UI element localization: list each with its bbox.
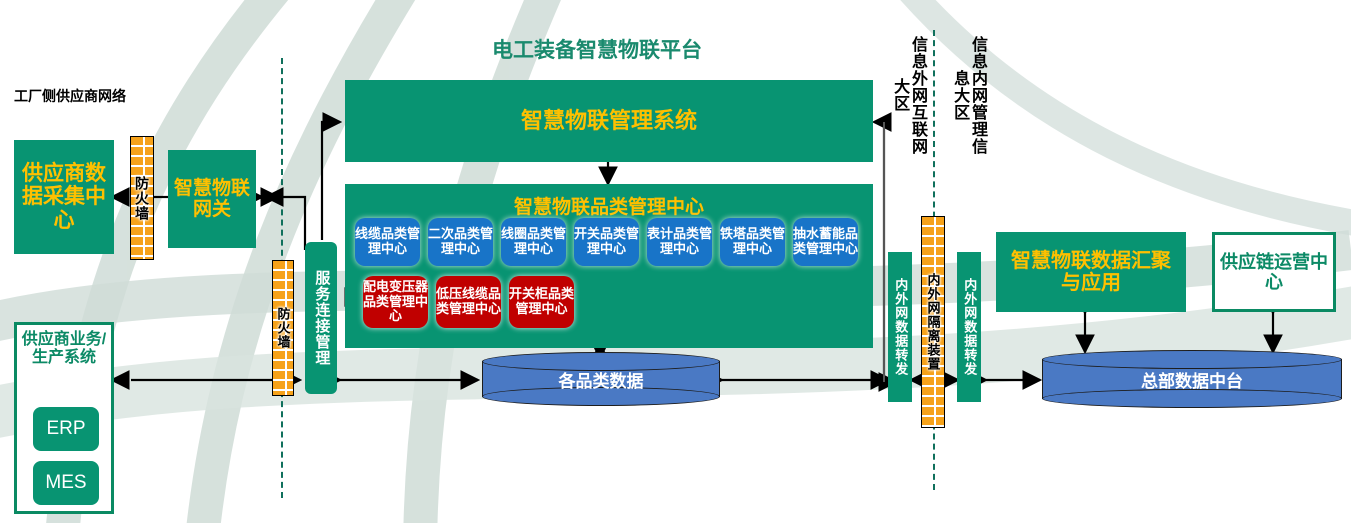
iot-gateway[interactable]: 智慧物联网关 <box>168 150 256 248</box>
internal-external-isolation-device-label: 内外网隔离装置 <box>924 273 943 371</box>
supplier-business-production-system-title: 供应商业务/生产系统 <box>17 331 111 367</box>
supplier-data-collection-center[interactable]: 供应商数据采集中心 <box>14 140 114 254</box>
red-category-switchgear[interactable]: 开关柜品类管理中心 <box>509 276 574 328</box>
supplier-business-production-system[interactable]: 供应商业务/生产系统 ERP MES <box>14 322 114 514</box>
blue-category-pumped-storage[interactable]: 抽水蓄能品类管理中心 <box>793 218 858 266</box>
iot-category-management-center-title: 智慧物联品类管理中心 <box>345 184 873 219</box>
service-connection-management[interactable]: 服务连接管理 <box>305 242 337 394</box>
red-category-low-voltage-cable[interactable]: 低压线缆品类管理中心 <box>436 276 501 328</box>
internal-external-forward-left[interactable]: 内外网数据转发 <box>888 252 912 402</box>
hq-data-platform-cylinder[interactable]: 总部数据中台 <box>1042 350 1342 408</box>
internal-external-forward-right[interactable]: 内外网数据转发 <box>957 252 981 402</box>
zone-label-external-net: 信息外网互联网大区 <box>880 30 926 160</box>
service-connection-management-label: 服务连接管理 <box>313 270 330 366</box>
zone-label-internal-net: 信息内网管理信息大区 <box>940 30 986 160</box>
mes-module[interactable]: MES <box>33 461 99 505</box>
internal-external-forward-left-label: 内外网数据转发 <box>893 278 908 376</box>
blue-category-secondary[interactable]: 二次品类管理中心 <box>428 218 493 266</box>
blue-category-cable[interactable]: 线缆品类管理中心 <box>355 218 420 266</box>
category-data-cylinder[interactable]: 各品类数据 <box>482 352 720 406</box>
blue-category-coil[interactable]: 线圈品类管理中心 <box>501 218 566 266</box>
firewall-2-label: 防火墙 <box>274 307 293 349</box>
firewall-1-label: 防火墙 <box>132 176 152 221</box>
iot-data-hub[interactable]: 智慧物联数据汇聚与应用 <box>996 232 1186 312</box>
hq-data-platform-cylinder-label: 总部数据中台 <box>1042 350 1342 408</box>
blue-category-meter[interactable]: 表计品类管理中心 <box>647 218 712 266</box>
blue-category-switch[interactable]: 开关品类管理中心 <box>574 218 639 266</box>
firewall-2: 防火墙 <box>272 260 294 396</box>
category-red-row: 配电变压器品类管理中心 低压线缆品类管理中心 开关柜品类管理中心 <box>363 276 683 330</box>
internal-external-forward-right-label: 内外网数据转发 <box>962 278 977 376</box>
page-title: 电工装备智慧物联平台 <box>452 34 742 64</box>
firewall-1: 防火墙 <box>130 136 154 260</box>
category-data-cylinder-label: 各品类数据 <box>482 352 720 406</box>
blue-category-tower[interactable]: 铁塔品类管理中心 <box>720 218 785 266</box>
iot-category-management-center: 智慧物联品类管理中心 线缆品类管理中心 二次品类管理中心 线圈品类管理中心 开关… <box>345 184 873 348</box>
red-category-transformer[interactable]: 配电变压器品类管理中心 <box>363 276 428 328</box>
internal-external-isolation-device: 内外网隔离装置 <box>921 216 945 428</box>
zone-label-factory: 工厂侧供应商网络 <box>14 86 126 106</box>
iot-management-system[interactable]: 智慧物联管理系统 <box>345 80 873 162</box>
category-blue-row: 线缆品类管理中心 二次品类管理中心 线圈品类管理中心 开关品类管理中心 表计品类… <box>355 218 865 268</box>
erp-module[interactable]: ERP <box>33 407 99 451</box>
supply-chain-operation-center[interactable]: 供应链运营中心 <box>1212 232 1336 312</box>
diagram-canvas: 电工装备智慧物联平台 工厂侧供应商网络 信息外网互联网大区 信息内网管理信息大区… <box>0 0 1351 523</box>
